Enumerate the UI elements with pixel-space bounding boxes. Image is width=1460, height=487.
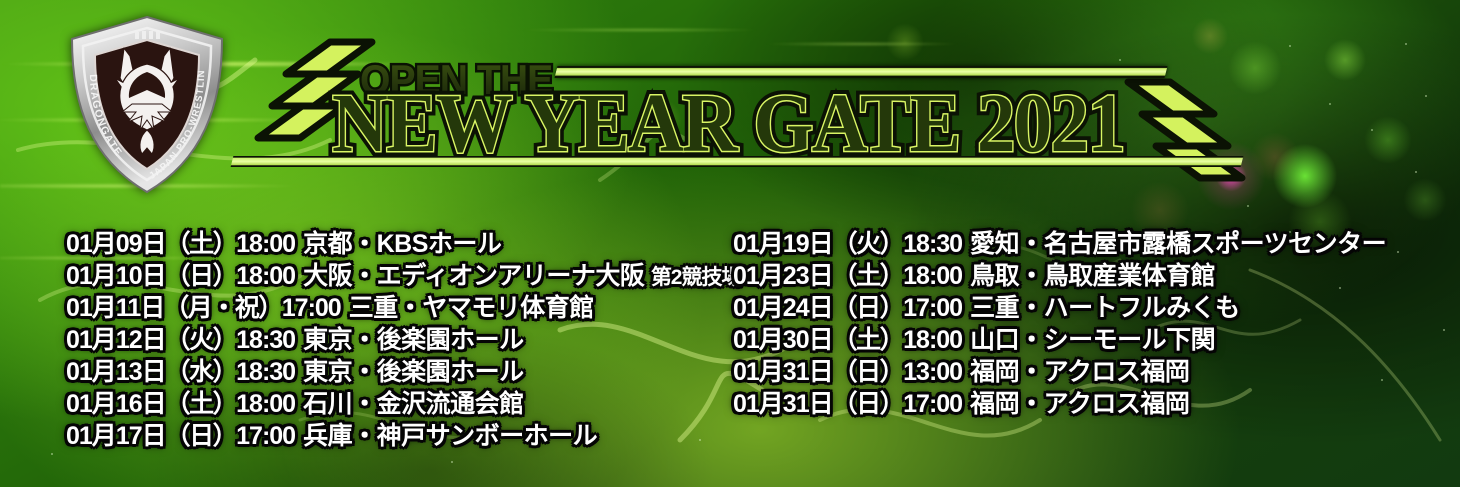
schedule-row: 01月12日（火）18:30東京・後楽園ホール bbox=[66, 324, 742, 356]
schedule-time: 18:30 bbox=[236, 326, 295, 354]
schedule-day-of-week: （日） bbox=[166, 422, 237, 450]
schedule-date: 01月16日 bbox=[66, 390, 166, 418]
schedule-row: 01月16日（土）18:00石川・金沢流通会館 bbox=[66, 388, 742, 420]
title-block: OPEN THE OPEN THE NEW YEAR GATE 2021 NEW… bbox=[240, 22, 1250, 182]
schedule-date: 01月13日 bbox=[66, 358, 166, 386]
schedule-venue: 東京・後楽園ホール bbox=[303, 358, 524, 386]
schedule-day-of-week: （火） bbox=[833, 230, 904, 258]
schedule-date: 01月30日 bbox=[733, 326, 833, 354]
schedule-time: 18:00 bbox=[236, 262, 295, 290]
schedule-date: 01月12日 bbox=[66, 326, 166, 354]
schedule-row: 01月19日（火）18:30愛知・名古屋市露橋スポーツセンター bbox=[733, 228, 1386, 260]
schedule-day-of-week: （日） bbox=[833, 390, 904, 418]
schedule-venue: 山口・シーモール下関 bbox=[970, 326, 1215, 354]
schedule-day-of-week: （土） bbox=[166, 230, 237, 258]
schedule-date: 01月31日 bbox=[733, 358, 833, 386]
schedule-time: 17:00 bbox=[903, 294, 962, 322]
schedule-row: 01月30日（土）18:00山口・シーモール下関 bbox=[733, 324, 1386, 356]
schedule-venue: 兵庫・神戸サンボーホール bbox=[303, 422, 597, 450]
schedule-row: 01月13日（水）18:30東京・後楽園ホール bbox=[66, 356, 742, 388]
schedule-date: 01月10日 bbox=[66, 262, 166, 290]
schedule-date: 01月17日 bbox=[66, 422, 166, 450]
schedule-venue: 福岡・アクロス福岡 bbox=[970, 390, 1189, 418]
schedule-column-right: 01月19日（火）18:30愛知・名古屋市露橋スポーツセンター01月23日（土）… bbox=[733, 228, 1386, 420]
schedule-time: 17:00 bbox=[903, 390, 962, 418]
schedule-time: 18:30 bbox=[903, 230, 962, 258]
schedule-column-left: 01月09日（土）18:00京都・KBSホール01月10日（日）18:00大阪・… bbox=[66, 228, 742, 452]
schedule-venue: 愛知・名古屋市露橋スポーツセンター bbox=[970, 230, 1386, 258]
schedule-list: 01月09日（土）18:00京都・KBSホール01月10日（日）18:00大阪・… bbox=[0, 228, 1460, 487]
schedule-row: 01月17日（日）17:00兵庫・神戸サンボーホール bbox=[66, 420, 742, 452]
schedule-date: 01月09日 bbox=[66, 230, 166, 258]
title-main-inner: NEW YEAR GATE 2021 bbox=[332, 82, 1124, 166]
schedule-date: 01月19日 bbox=[733, 230, 833, 258]
event-poster: DRAGONGATE JAPAN PRO-WRESTLING bbox=[0, 0, 1460, 487]
schedule-venue: 福岡・アクロス福岡 bbox=[970, 358, 1189, 386]
schedule-date: 01月23日 bbox=[733, 262, 833, 290]
schedule-row: 01月31日（日）13:00福岡・アクロス福岡 bbox=[733, 356, 1386, 388]
schedule-row: 01月24日（日）17:00三重・ハートフルみくも bbox=[733, 292, 1386, 324]
schedule-day-of-week: （火） bbox=[166, 326, 237, 354]
schedule-time: 18:30 bbox=[236, 358, 295, 386]
schedule-date: 01月24日 bbox=[733, 294, 833, 322]
schedule-time: 18:00 bbox=[903, 262, 962, 290]
schedule-day-of-week: （土） bbox=[833, 262, 904, 290]
schedule-day-of-week: （日） bbox=[833, 358, 904, 386]
schedule-venue: 東京・後楽園ホール bbox=[303, 326, 524, 354]
schedule-day-of-week: （土） bbox=[833, 326, 904, 354]
schedule-venue: 京都・KBSホール bbox=[303, 230, 501, 258]
schedule-venue-sub: 第2競技場 bbox=[651, 266, 742, 289]
schedule-row: 01月10日（日）18:00大阪・エディオンアリーナ大阪 第2競技場 bbox=[66, 260, 742, 292]
schedule-day-of-week: （土） bbox=[166, 390, 237, 418]
schedule-time: 18:00 bbox=[236, 230, 295, 258]
schedule-row: 01月23日（土）18:00鳥取・鳥取産業体育館 bbox=[733, 260, 1386, 292]
schedule-date: 01月31日 bbox=[733, 390, 833, 418]
schedule-venue: 石川・金沢流通会館 bbox=[303, 390, 524, 418]
schedule-venue: 三重・ヤマモリ体育館 bbox=[349, 294, 594, 322]
schedule-venue: 大阪・エディオンアリーナ大阪 bbox=[303, 262, 644, 290]
schedule-time: 17:00 bbox=[282, 294, 341, 322]
schedule-row: 01月11日（月・祝）17:00三重・ヤマモリ体育館 bbox=[66, 292, 742, 324]
schedule-venue: 三重・ハートフルみくも bbox=[970, 294, 1240, 322]
schedule-day-of-week: （日） bbox=[833, 294, 904, 322]
schedule-row: 01月31日（日）17:00福岡・アクロス福岡 bbox=[733, 388, 1386, 420]
schedule-time: 18:00 bbox=[236, 390, 295, 418]
schedule-time: 17:00 bbox=[236, 422, 295, 450]
title-underline-rule bbox=[231, 156, 1244, 167]
wing-right-icon bbox=[1110, 74, 1250, 194]
schedule-day-of-week: （日） bbox=[166, 262, 237, 290]
schedule-time: 13:00 bbox=[903, 358, 962, 386]
schedule-date: 01月11日 bbox=[66, 294, 164, 322]
schedule-day-of-week: （水） bbox=[166, 358, 237, 386]
schedule-time: 18:00 bbox=[903, 326, 962, 354]
dragongate-logo[interactable]: DRAGONGATE JAPAN PRO-WRESTLING bbox=[62, 12, 232, 197]
schedule-day-of-week: （月・祝） bbox=[164, 294, 282, 322]
schedule-row: 01月09日（土）18:00京都・KBSホール bbox=[66, 228, 742, 260]
schedule-venue: 鳥取・鳥取産業体育館 bbox=[970, 262, 1215, 290]
